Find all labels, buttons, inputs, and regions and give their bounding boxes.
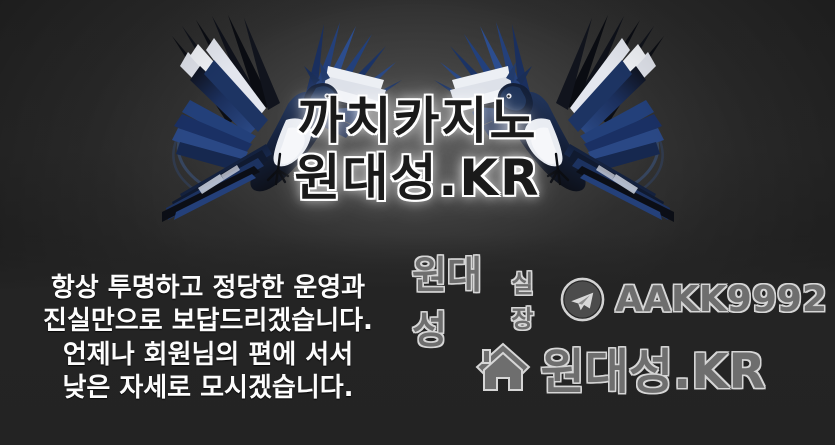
brand-title-line-1: 까치카지노	[0, 96, 835, 147]
casino-promo-banner: 까치카지노 원대성.KR 항상 투명하고 정당한 운영과 진실만으로 보답드리겠…	[0, 0, 835, 445]
telegram-icon[interactable]	[559, 276, 606, 323]
brand-title-line-2: 원대성.KR	[0, 153, 835, 204]
contact-block: 원대성 실장 AAKK9992 원대성.KR	[412, 268, 827, 406]
slogan-line-1: 항상 투명하고 정당한 운영과	[18, 272, 398, 305]
site-name[interactable]: 원대성.KR	[541, 332, 766, 402]
slogan-line-2: 진실만으로 보답드리겠습니다.	[18, 305, 398, 338]
contact-site-row: 원대성.KR	[412, 328, 827, 406]
contact-telegram-row: 원대성 실장 AAKK9992	[412, 268, 827, 330]
brand-title: 까치카지노 원대성.KR	[0, 96, 835, 204]
slogan-line-4: 낮은 자세로 모시겠습니다.	[18, 372, 398, 405]
manager-title: 실장	[511, 264, 550, 334]
slogan-line-3: 언제나 회원님의 편에 서서	[18, 339, 398, 372]
slogan-block: 항상 투명하고 정당한 운영과 진실만으로 보답드리겠습니다. 언제나 회원님의…	[18, 272, 398, 405]
home-icon[interactable]	[474, 340, 532, 394]
telegram-handle[interactable]: AAKK9992	[615, 279, 827, 320]
manager-name: 원대성	[412, 244, 504, 354]
